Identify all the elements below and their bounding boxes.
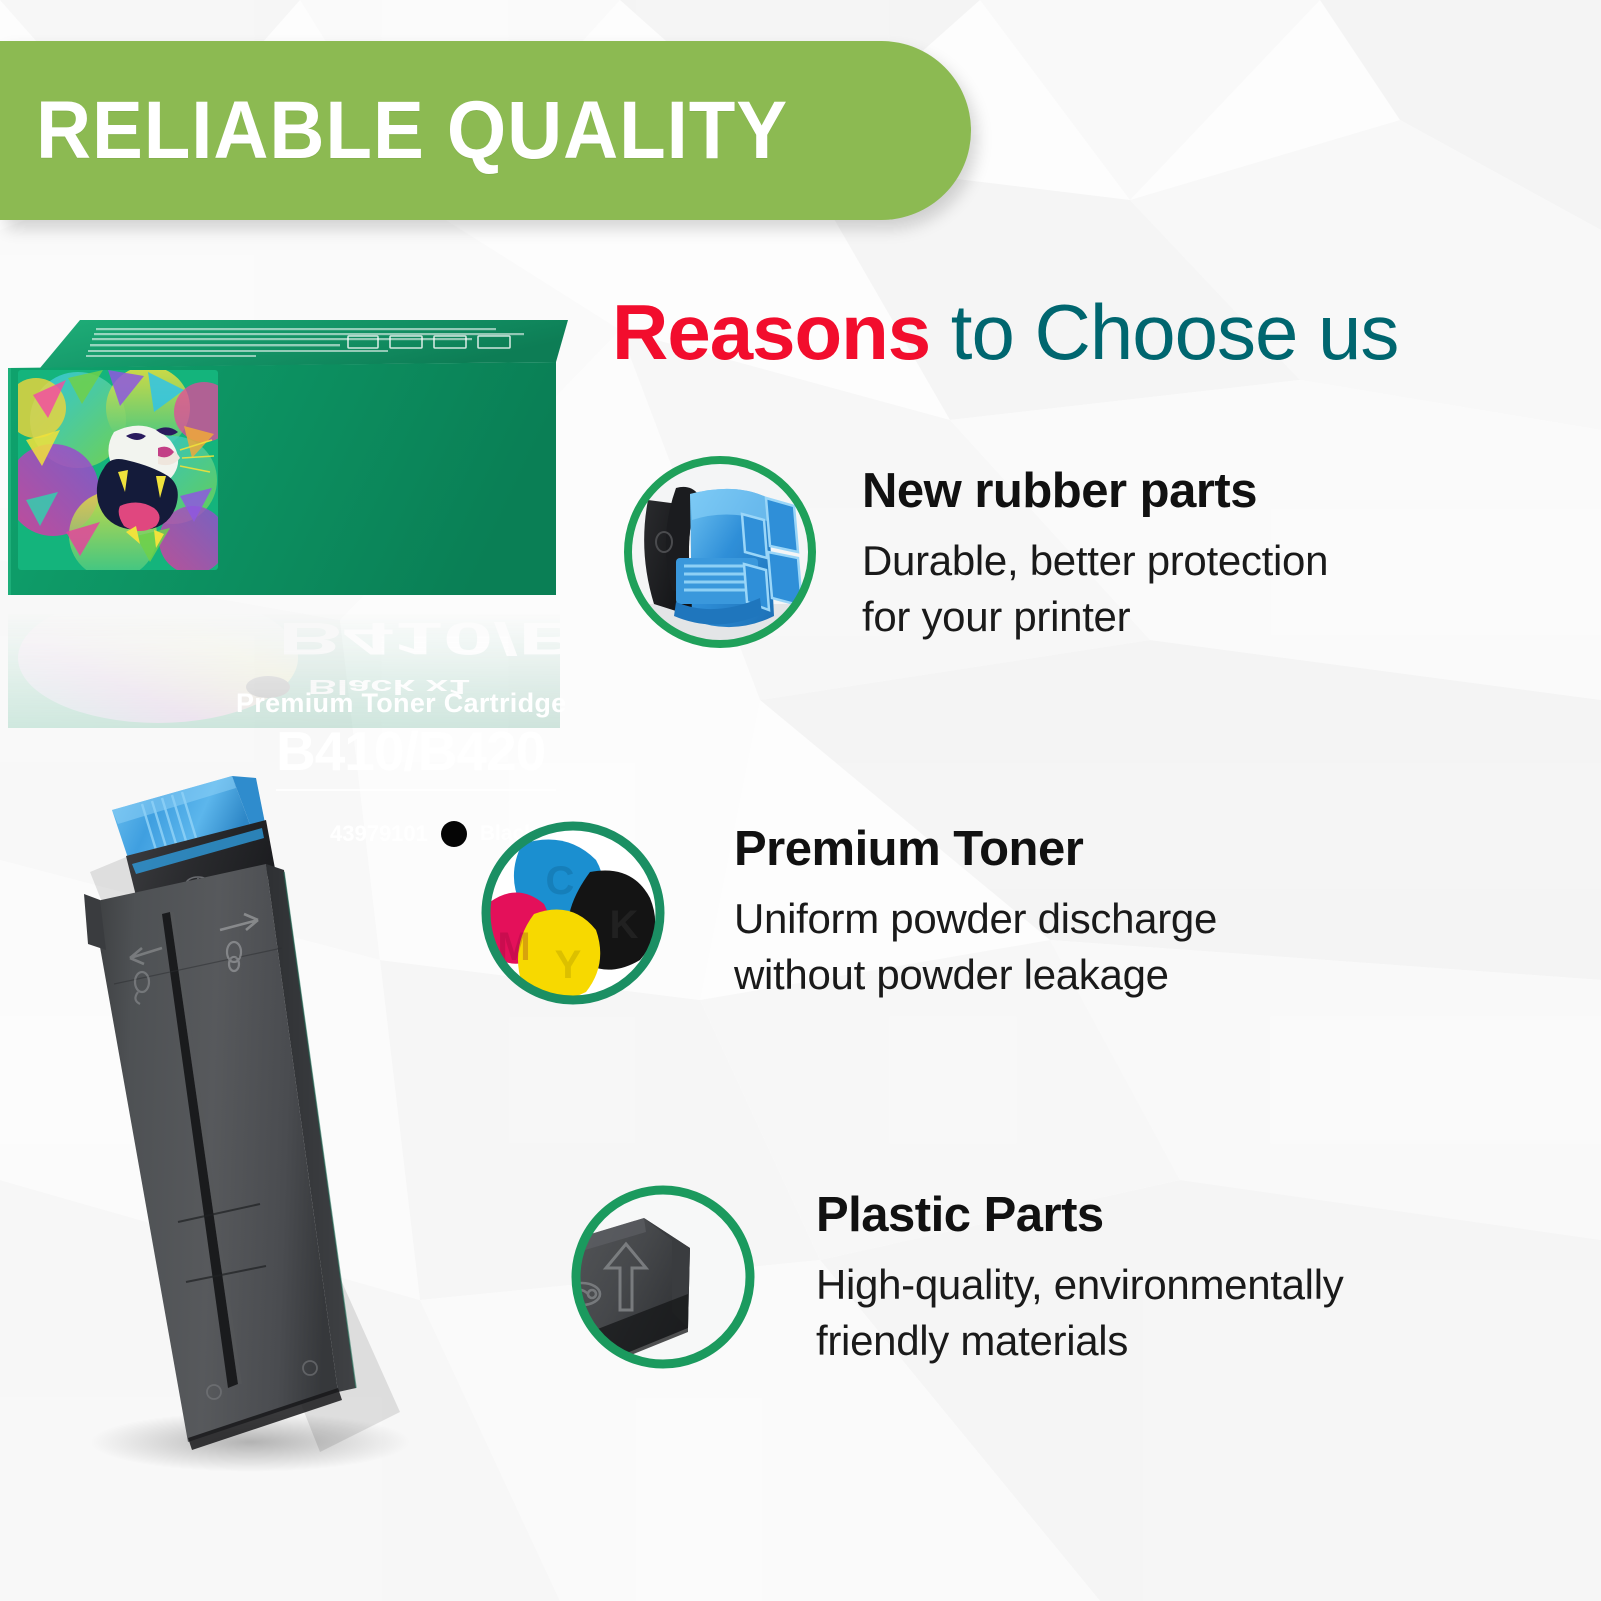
feature-2-line-1: Uniform powder discharge [734, 891, 1217, 947]
feature-new-rubber-parts: New rubber parts Durable, better protect… [620, 452, 1328, 652]
feature-1-line-1: Durable, better protection [862, 533, 1328, 589]
feature-plastic-parts: Plastic Parts High-quality, environmenta… [568, 1182, 1343, 1372]
feature-3-line-1: High-quality, environmentally [816, 1257, 1343, 1313]
feature-3-text: Plastic Parts High-quality, environmenta… [816, 1182, 1343, 1369]
svg-text:C: C [546, 859, 575, 903]
feature-premium-toner: C M Y K Premium Toner Uniform powder dis… [478, 818, 1217, 1008]
svg-text:Y: Y [555, 943, 582, 987]
toner-cartridge [70, 752, 450, 1472]
rubber-parts-photo [620, 452, 820, 652]
svg-text:K: K [610, 903, 639, 947]
product-box-art [8, 300, 568, 600]
cartridge-body [84, 864, 356, 1450]
banner-label: RELIABLE QUALITY [36, 84, 788, 178]
toner-cartridge-photo [70, 752, 450, 1472]
feature-1-title: New rubber parts [862, 466, 1328, 517]
reliable-quality-banner: RELIABLE QUALITY [0, 41, 971, 220]
box-title: Premium Toner Cartridge [236, 688, 566, 719]
colorful-lion-icon [8, 366, 234, 579]
feature-3-line-2: friendly materials [816, 1313, 1343, 1369]
cmyk-toner-powder-photo: C M Y K [478, 818, 668, 1008]
headline-rest: to Choose us [930, 288, 1398, 376]
feature-2-body: Uniform powder discharge without powder … [734, 891, 1217, 1003]
feature-2-line-2: without powder leakage [734, 947, 1217, 1003]
plastic-parts-photo [568, 1182, 758, 1372]
product-box: Premium Toner Cartridge B410/B420 439791… [8, 300, 568, 720]
headline-accent: Reasons [612, 288, 930, 376]
feature-1-line-2: for your printer [862, 589, 1328, 645]
feature-1-body: Durable, better protection for your prin… [862, 533, 1328, 645]
feature-3-title: Plastic Parts [816, 1190, 1343, 1241]
page-title: Reasons to Choose us [612, 287, 1398, 378]
feature-2-text: Premium Toner Uniform powder discharge w… [734, 818, 1217, 1003]
feature-3-body: High-quality, environmentally friendly m… [816, 1257, 1343, 1369]
feature-2-title: Premium Toner [734, 824, 1217, 875]
product-infographic: RELIABLE QUALITY Black x1 [0, 0, 1601, 1601]
feature-1-text: New rubber parts Durable, better protect… [862, 452, 1328, 645]
